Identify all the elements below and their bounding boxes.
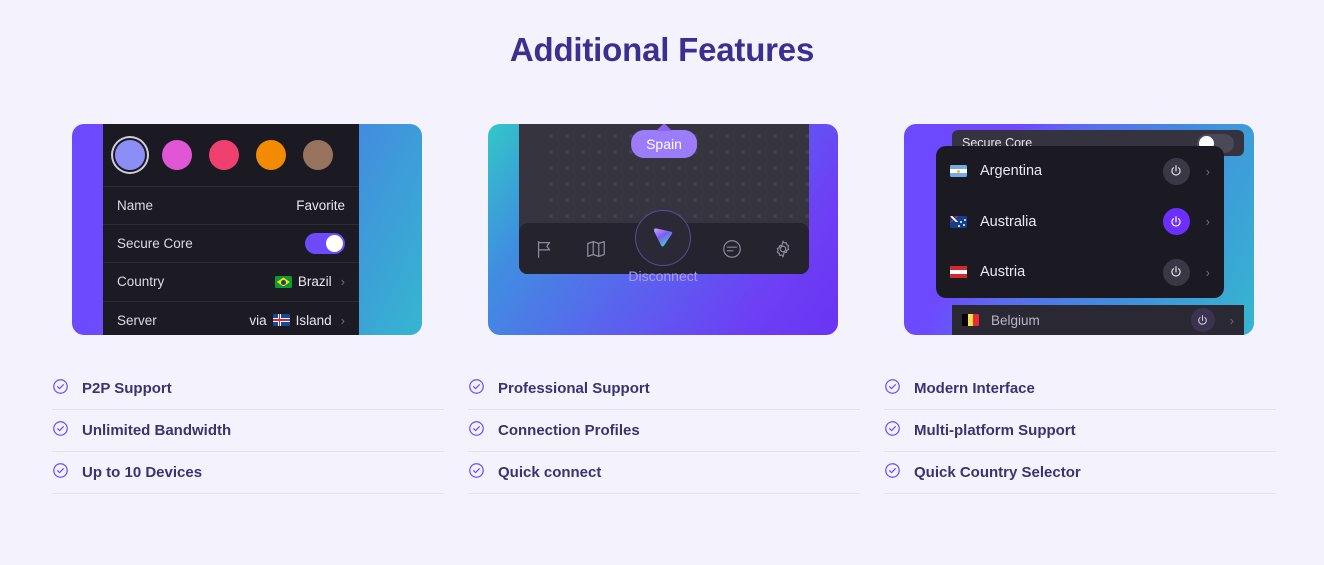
feature-item: P2P Support (52, 368, 444, 410)
power-icon[interactable] (1163, 259, 1190, 286)
feature-label: P2P Support (82, 380, 172, 397)
chevron-right-icon: › (341, 313, 345, 328)
country-list: Argentina › Australia › (936, 146, 1224, 298)
feature-item: Professional Support (468, 368, 860, 410)
brazil-flag-icon (275, 276, 292, 288)
color-swatch-orange[interactable] (256, 140, 286, 170)
check-circle-icon (468, 462, 485, 483)
feature-item: Quick connect (468, 452, 860, 494)
feature-item: Multi-platform Support (884, 410, 1276, 452)
check-circle-icon (884, 420, 901, 441)
check-circle-icon (52, 378, 69, 399)
color-swatch-row (103, 124, 359, 186)
check-circle-icon (468, 420, 485, 441)
row-server-label: Server (117, 313, 157, 328)
country-row-australia[interactable]: Australia › (950, 197, 1210, 248)
row-server-prefix: via (249, 313, 266, 328)
feature-column-3: Modern Interface Multi-platform Support … (884, 368, 1276, 494)
profile-settings-card: Name Favorite Secure Core Country Brazil… (72, 124, 422, 335)
color-swatch-orchid[interactable] (162, 140, 192, 170)
color-swatch-pink[interactable] (209, 140, 239, 170)
country-row-austria[interactable]: Austria › (950, 247, 1210, 298)
feature-label: Quick connect (498, 464, 601, 481)
feature-item: Connection Profiles (468, 410, 860, 452)
check-circle-icon (468, 378, 485, 399)
chevron-right-icon: › (1206, 265, 1210, 280)
country-pin-spain[interactable]: Spain (631, 130, 697, 158)
feature-column-1: P2P Support Unlimited Bandwidth Up to 10… (52, 368, 444, 494)
chevron-right-icon: › (1230, 313, 1234, 328)
iceland-flag-icon (273, 314, 290, 326)
power-icon[interactable] (1191, 308, 1215, 332)
feature-item: Quick Country Selector (884, 452, 1276, 494)
proton-logo-icon (648, 223, 678, 253)
country-row-belgium-label: Belgium (991, 313, 1179, 328)
power-icon-active[interactable] (1163, 208, 1190, 235)
feature-column-2: Professional Support Connection Profiles… (468, 368, 860, 494)
feature-label: Quick Country Selector (914, 464, 1081, 481)
feature-label: Modern Interface (914, 380, 1035, 397)
feature-cards-row: Name Favorite Secure Core Country Brazil… (0, 124, 1324, 336)
row-country[interactable]: Country Brazil › (103, 262, 359, 300)
row-secure-core-label: Secure Core (117, 236, 193, 251)
row-name-label: Name (117, 198, 153, 213)
australia-flag-icon (950, 216, 967, 228)
feature-label: Unlimited Bandwidth (82, 422, 231, 439)
feature-label: Connection Profiles (498, 422, 640, 439)
feature-label: Up to 10 Devices (82, 464, 202, 481)
row-name[interactable]: Name Favorite (103, 186, 359, 224)
disconnect-label: Disconnect (628, 268, 697, 284)
feature-item: Up to 10 Devices (52, 452, 444, 494)
row-server[interactable]: Server via Island › (103, 301, 359, 335)
check-circle-icon (52, 462, 69, 483)
country-row-australia-label: Australia (980, 214, 1150, 230)
belgium-flag-icon (962, 314, 979, 326)
country-row-belgium[interactable]: Belgium › (952, 305, 1244, 335)
page-title: Additional Features (0, 31, 1324, 69)
country-row-argentina[interactable]: Argentina › (950, 146, 1210, 197)
row-server-text: Island (296, 313, 332, 328)
gear-icon[interactable] (772, 238, 794, 260)
power-icon[interactable] (1163, 158, 1190, 185)
argentina-flag-icon (950, 165, 967, 177)
profile-panel: Name Favorite Secure Core Country Brazil… (103, 124, 359, 335)
row-name-value: Favorite (296, 198, 345, 213)
map-icon[interactable] (585, 238, 607, 260)
row-secure-core[interactable]: Secure Core (103, 224, 359, 262)
check-circle-icon (52, 420, 69, 441)
feature-item: Unlimited Bandwidth (52, 410, 444, 452)
chevron-right-icon: › (1206, 214, 1210, 229)
country-row-austria-label: Austria (980, 264, 1150, 280)
row-server-value: via Island › (249, 313, 345, 328)
disconnect-button[interactable] (635, 210, 691, 266)
country-row-argentina-label: Argentina (980, 163, 1150, 179)
row-country-text: Brazil (298, 274, 332, 289)
feature-item: Modern Interface (884, 368, 1276, 410)
row-country-label: Country (117, 274, 164, 289)
chevron-right-icon: › (1206, 164, 1210, 179)
feature-label: Professional Support (498, 380, 650, 397)
color-swatch-periwinkle[interactable] (115, 140, 145, 170)
row-country-value: Brazil › (275, 274, 345, 289)
country-selector-card: Secure Core Belgium › Argentina (904, 124, 1254, 335)
chevron-right-icon: › (341, 274, 345, 289)
austria-flag-icon (950, 266, 967, 278)
secure-core-toggle[interactable] (305, 233, 345, 254)
flag-icon[interactable] (534, 238, 556, 260)
color-swatch-brown[interactable] (303, 140, 333, 170)
check-circle-icon (884, 378, 901, 399)
vpn-map-card: Spain (488, 124, 838, 335)
list-circle-icon[interactable] (721, 238, 743, 260)
check-circle-icon (884, 462, 901, 483)
feature-label: Multi-platform Support (914, 422, 1076, 439)
